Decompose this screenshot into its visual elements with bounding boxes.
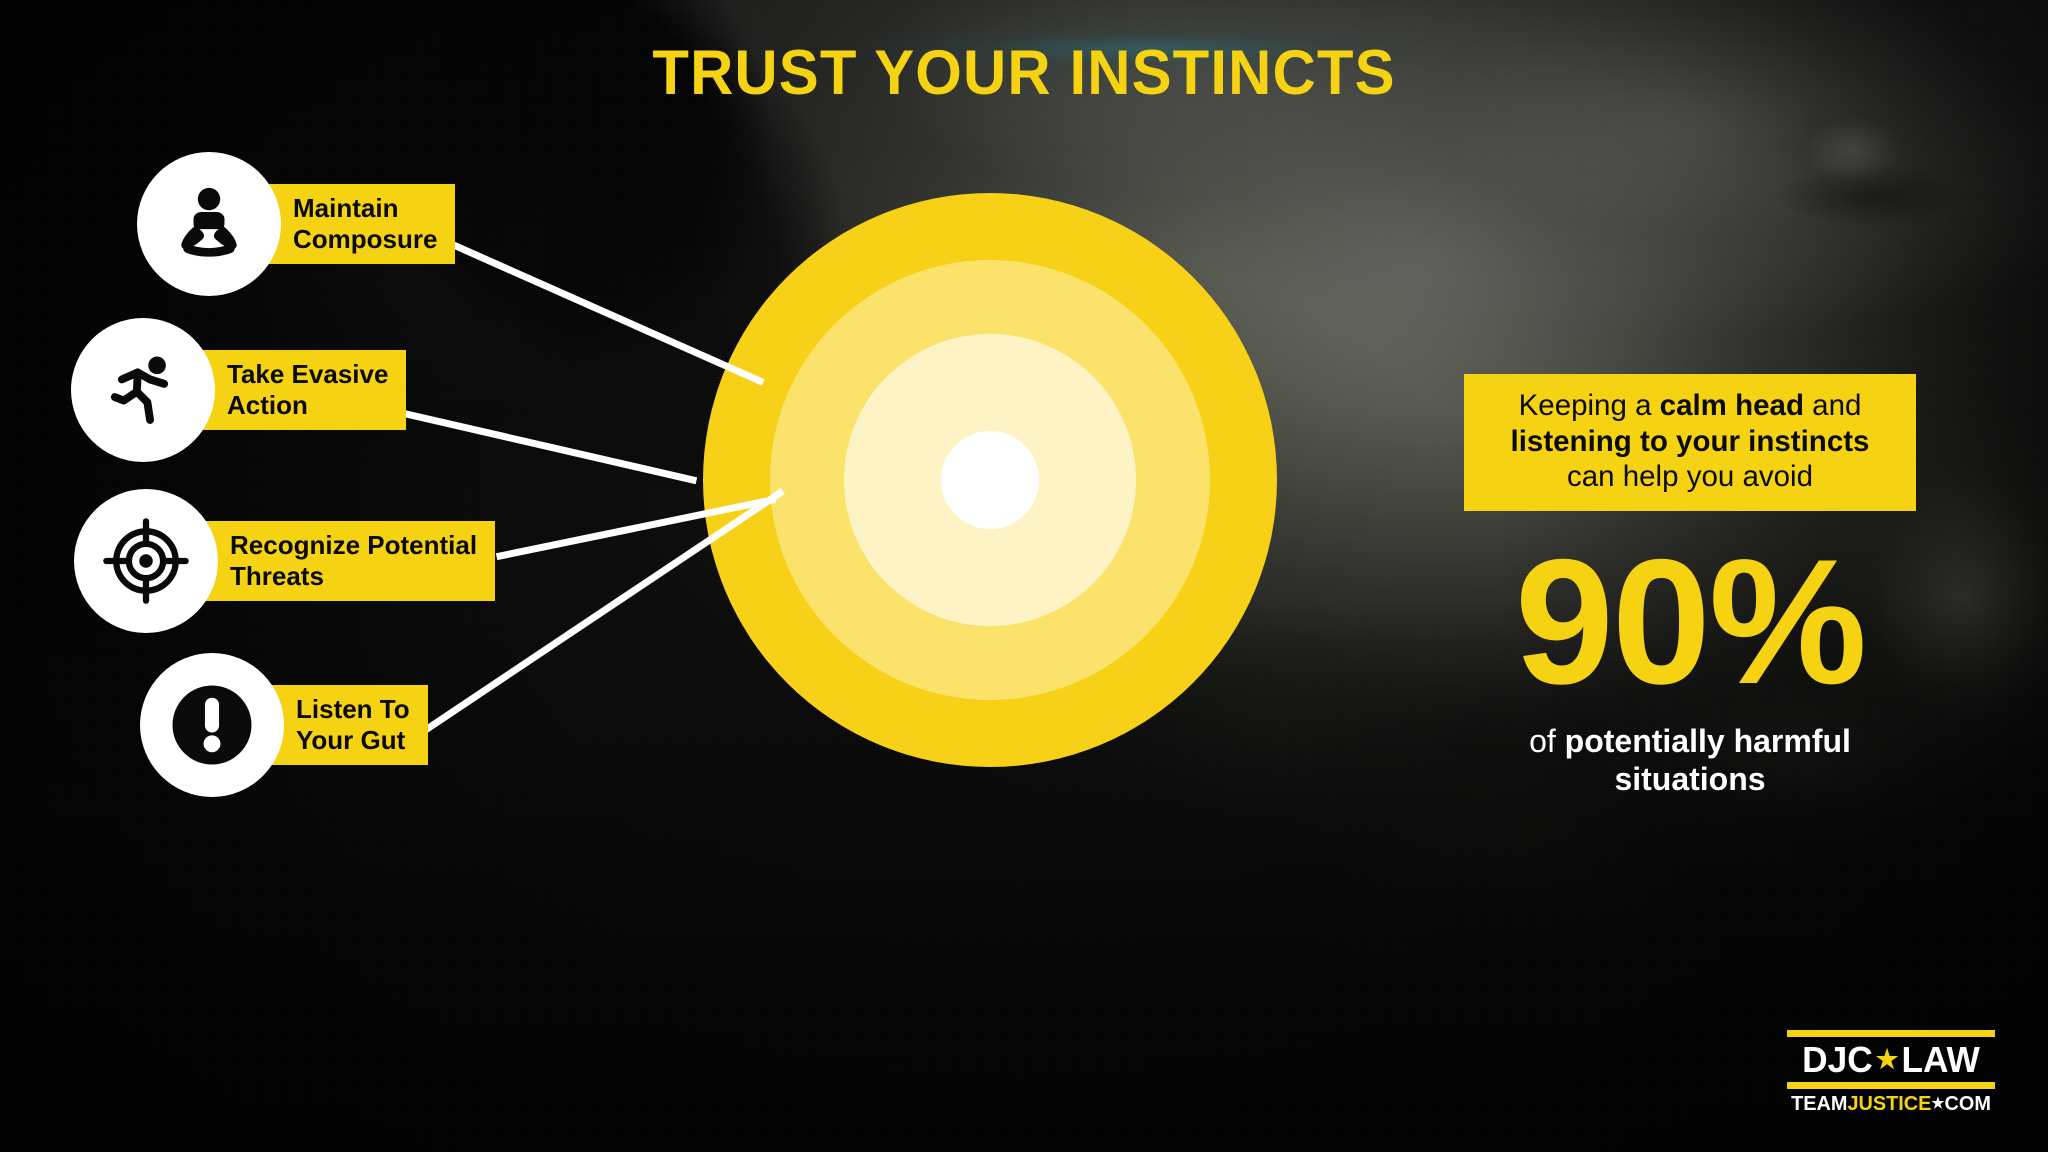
list-item[interactable]: Listen To Your Gut [140, 653, 428, 797]
list-item-label: Maintain Composure [263, 184, 455, 263]
stat-caption-prefix: of [1529, 723, 1565, 759]
callout-line2: listening to your instincts [1511, 425, 1870, 458]
logo-name-law: LAW [1901, 1041, 1979, 1079]
infographic-canvas: TRUST YOUR INSTINCTS [0, 0, 2048, 1152]
star-icon: ★ [1876, 1046, 1899, 1073]
djc-law-logo[interactable]: DJC ★ LAW TEAMJUSTICE★COM [1787, 1030, 1995, 1115]
logo-sub-com: COM [1944, 1092, 1990, 1115]
crosshair-target-icon [101, 516, 191, 606]
list-item[interactable]: Maintain Composure [137, 152, 455, 296]
logo-wordmark: DJC ★ LAW [1789, 1041, 1993, 1079]
exclamation-mark-icon [165, 678, 259, 772]
icon-bubble [71, 318, 215, 462]
icon-bubble [140, 653, 284, 797]
stat-caption: of potentially harmful situations [1464, 722, 1916, 799]
list-item-label: Listen To Your Gut [266, 685, 428, 764]
list-item-label: Recognize Potential Threats [200, 521, 495, 600]
page-title: TRUST YOUR INSTINCTS [51, 42, 1997, 105]
logo-name-djc: DJC [1802, 1041, 1873, 1079]
stat-value: 90% [1464, 537, 1916, 708]
logo-website: TEAMJUSTICE★COM [1790, 1093, 1992, 1116]
callout-box: Keeping a calm head and listening to you… [1464, 374, 1916, 511]
meditating-person-icon [166, 181, 252, 267]
stat-caption-emphasis: potentially harmful situations [1565, 723, 1851, 797]
concentric-rings-graphic [703, 193, 1277, 767]
logo-bottom-bar [1787, 1082, 1995, 1089]
running-person-icon [99, 346, 187, 434]
callout-line3: can help you avoid [1567, 460, 1813, 493]
logo-top-bar [1787, 1030, 1995, 1037]
callout-line1-b: calm head [1660, 389, 1804, 422]
icon-bubble [74, 489, 218, 633]
list-item[interactable]: Recognize Potential Threats [74, 489, 495, 633]
statistic-panel: Keeping a calm head and listening to you… [1464, 0, 1916, 799]
icon-bubble [137, 152, 281, 296]
list-item-label: Take Evasive Action [197, 350, 406, 429]
callout-line1-c: and [1804, 389, 1861, 422]
ring-core [941, 431, 1039, 529]
logo-sub-justice: JUSTICE [1847, 1092, 1931, 1115]
callout-line1-a: Keeping a [1519, 389, 1660, 422]
logo-sub-star-icon: ★ [1931, 1095, 1944, 1112]
logo-sub-team: TEAM [1791, 1092, 1847, 1115]
list-item[interactable]: Take Evasive Action [71, 318, 406, 462]
